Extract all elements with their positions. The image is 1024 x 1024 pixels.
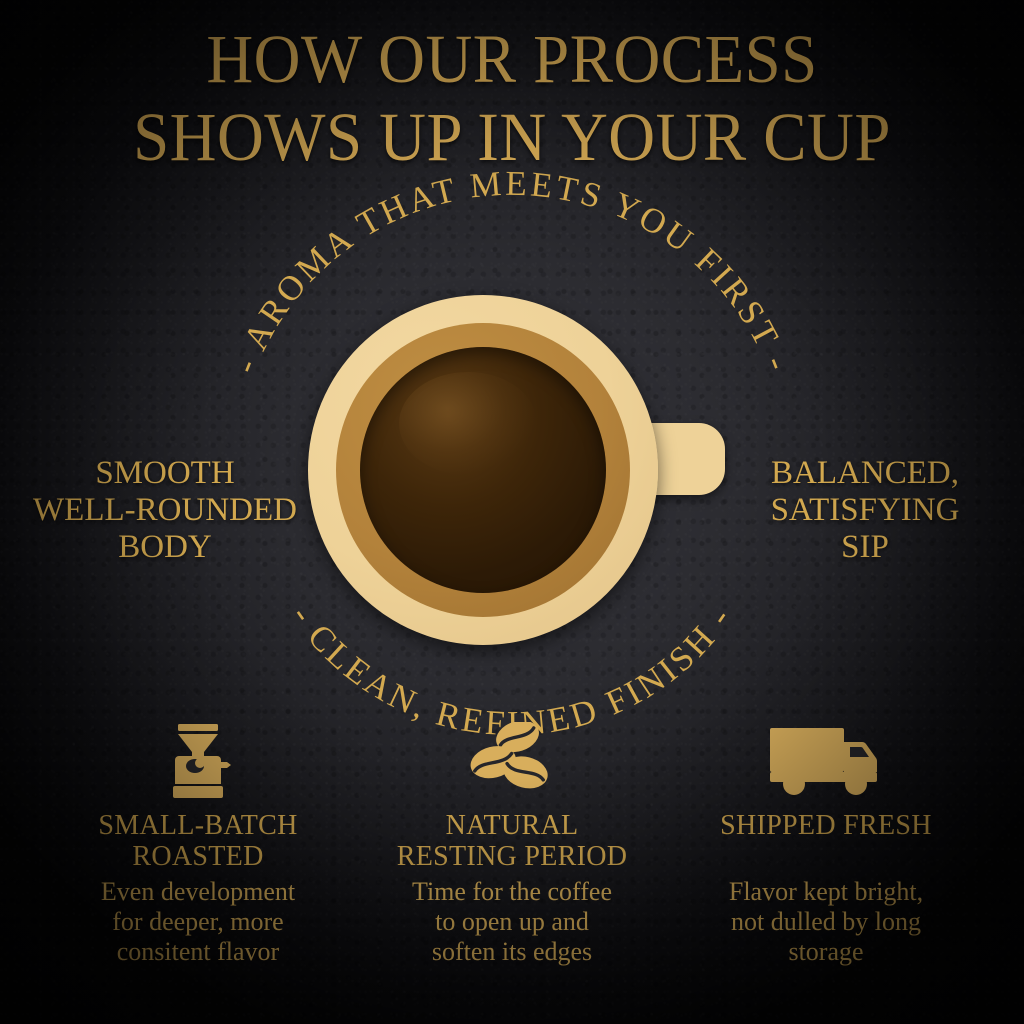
feature-title: SMALL-BATCH ROASTED: [48, 810, 348, 872]
cup-rim: [308, 295, 658, 645]
cup-inner-rim: [336, 323, 630, 617]
feature-desc-line-3: consitent flavor: [48, 937, 348, 967]
feature-title-line-2: RESTING PERIOD: [362, 841, 662, 872]
delivery-truck-glyph: [766, 722, 886, 802]
attribute-label-right: BALANCED, SATISFYING SIP: [715, 455, 1015, 566]
label-left-line-2: WELL-ROUNDED: [5, 492, 325, 529]
coffee-grinder-icon: [48, 722, 348, 802]
feature-title: NATURAL RESTING PERIOD: [362, 810, 662, 872]
feature-item-natural-resting-period: NATURAL RESTING PERIOD Time for the coff…: [362, 722, 662, 967]
feature-title-line-2: ROASTED: [48, 841, 348, 872]
feature-description: Flavor kept bright, not dulled by long s…: [676, 877, 976, 967]
title-line-2: SHOWS UP IN YOUR CUP: [31, 98, 994, 176]
feature-list: SMALL-BATCH ROASTED Even development for…: [0, 722, 1024, 967]
title-line-1: HOW OUR PROCESS: [31, 20, 994, 98]
coffee-grinder-glyph: [162, 722, 234, 802]
page-title: HOW OUR PROCESS SHOWS UP IN YOUR CUP: [31, 20, 994, 176]
feature-description: Even development for deeper, more consit…: [48, 877, 348, 967]
label-right-line-2: SATISFYING: [715, 492, 1015, 529]
coffee-sheen: [399, 372, 537, 475]
feature-title-line-1: SHIPPED FRESH: [676, 810, 976, 841]
coffee-beans-icon: [362, 722, 662, 802]
feature-title-line-1: SMALL-BATCH: [48, 810, 348, 841]
feature-desc-line-1: Flavor kept bright,: [676, 877, 976, 907]
delivery-truck-icon: [676, 722, 976, 802]
coffee-surface: [360, 347, 606, 593]
attribute-label-left: SMOOTH WELL-ROUNDED BODY: [5, 455, 325, 566]
feature-title-spacer: [676, 841, 976, 872]
coffee-beans-glyph: [464, 722, 560, 802]
label-left-line-3: BODY: [5, 529, 325, 566]
feature-desc-line-1: Time for the coffee: [362, 877, 662, 907]
infographic-canvas: HOW OUR PROCESS SHOWS UP IN YOUR CUP - A…: [0, 0, 1024, 1024]
feature-desc-line-3: storage: [676, 937, 976, 967]
feature-desc-line-3: soften its edges: [362, 937, 662, 967]
label-right-line-3: SIP: [715, 529, 1015, 566]
feature-desc-line-2: for deeper, more: [48, 907, 348, 937]
feature-description: Time for the coffee to open up and softe…: [362, 877, 662, 967]
label-left-line-1: SMOOTH: [5, 455, 325, 492]
feature-item-small-batch-roasted: SMALL-BATCH ROASTED Even development for…: [48, 722, 348, 967]
feature-item-shipped-fresh: SHIPPED FRESH Flavor kept bright, not du…: [676, 722, 976, 967]
label-right-line-1: BALANCED,: [715, 455, 1015, 492]
coffee-cup-illustration: [275, 295, 750, 645]
feature-title: SHIPPED FRESH: [676, 810, 976, 872]
feature-desc-line-2: to open up and: [362, 907, 662, 937]
feature-desc-line-1: Even development: [48, 877, 348, 907]
feature-title-line-1: NATURAL: [362, 810, 662, 841]
feature-desc-line-2: not dulled by long: [676, 907, 976, 937]
